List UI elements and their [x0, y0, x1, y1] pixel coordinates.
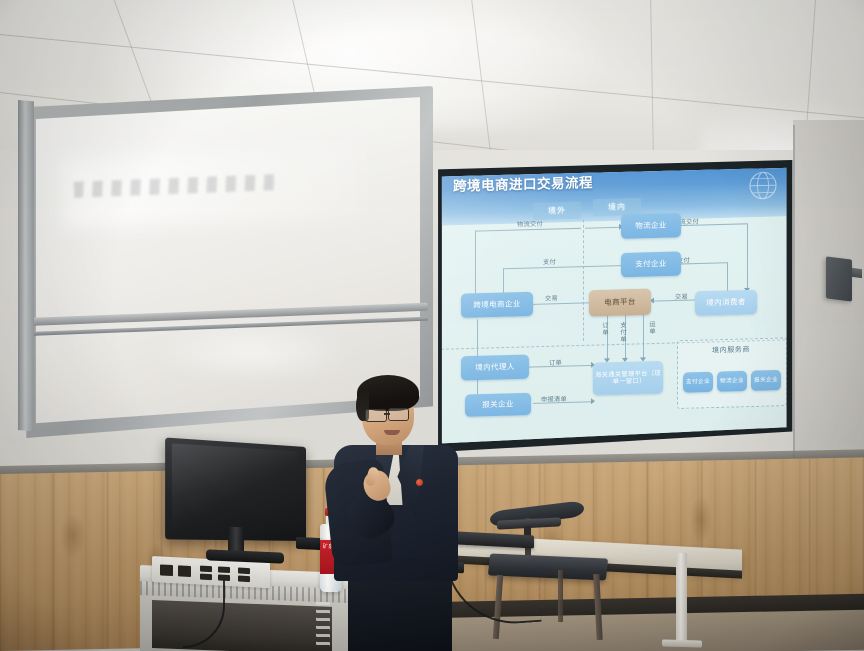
edge-label-waybill: 运单: [647, 321, 656, 335]
presenter: [320, 375, 470, 651]
node-customs-platform[interactable]: 海关通关管理平台（现·单一窗口）: [593, 361, 663, 395]
edge-line: [643, 315, 644, 359]
edge-line: [585, 227, 621, 229]
control-button[interactable]: [200, 566, 212, 573]
monitor-screen-glare: [172, 443, 298, 534]
screen-surface: 跨境电商进口交易流程 境外 境内: [437, 167, 789, 445]
control-button[interactable]: [218, 566, 230, 573]
node-cbec[interactable]: 跨境电商企业: [461, 292, 533, 318]
glasses-bridge: [384, 413, 390, 415]
edge-label-declaration: 申报清单: [541, 394, 567, 404]
edge-line: [475, 228, 581, 232]
overseas-domestic-divider: [583, 220, 584, 341]
svc-payment[interactable]: 支付企业: [683, 372, 713, 393]
edge-label-paydoc: 支付单: [618, 321, 627, 342]
glasses-lens-left: [365, 409, 387, 422]
presenter-lap: [348, 571, 452, 651]
edge-line: [503, 265, 621, 269]
podium-equipment-bay: [152, 600, 332, 651]
control-button[interactable]: [238, 568, 250, 575]
edge-line: [747, 223, 748, 290]
node-logistics[interactable]: 物流企业: [621, 213, 681, 239]
whiteboard-glare-lower: [152, 322, 352, 382]
node-agent[interactable]: 境内代理人: [461, 354, 529, 380]
edge-label-trade-1: 交易: [545, 293, 558, 302]
edge-label-order-h: 订单: [549, 358, 562, 367]
control-button[interactable]: [238, 576, 250, 583]
control-button[interactable]: [160, 564, 173, 576]
slide-content: 跨境电商进口交易流程 境外 境内: [437, 167, 789, 445]
node-platform[interactable]: 电商平台: [589, 289, 651, 317]
edge-label-order-v: 订单: [600, 322, 609, 336]
node-payment[interactable]: 支付企业: [621, 251, 681, 277]
desk-leg-right: [676, 553, 687, 645]
node-broker[interactable]: 报关企业: [465, 393, 531, 417]
svc-broker[interactable]: 报关企业: [751, 370, 781, 391]
monitor-screen[interactable]: [165, 437, 306, 541]
wood-knot: [690, 495, 712, 543]
globe-icon: [743, 170, 783, 201]
projection-screen[interactable]: 跨境电商进口交易流程 境外 境内: [430, 160, 800, 460]
node-consumer[interactable]: 境内消费者: [695, 290, 757, 316]
wood-knot: [60, 512, 86, 558]
wall-speaker-icon: [826, 256, 852, 301]
edge-label-logistics-1: 物流交付: [517, 219, 543, 229]
edge-arrow: [591, 398, 595, 404]
glasses-lens-right: [388, 408, 409, 421]
presenter-mouth: [384, 430, 400, 435]
chair-leg: [558, 570, 563, 622]
lapel-pin-icon: [416, 479, 423, 486]
edge-label-payment-1: 支付: [543, 257, 556, 266]
svc-logistics[interactable]: 物流企业: [717, 371, 747, 392]
zone-tag-overseas: 境外: [533, 202, 581, 220]
classroom-photo: 跨境电商进口交易流程 境外 境内: [0, 0, 864, 651]
whiteboard-left-post: [18, 100, 34, 431]
control-button[interactable]: [178, 565, 191, 577]
desk-foot-right: [662, 639, 702, 647]
edge-label-trade-2: 交易: [675, 292, 688, 301]
